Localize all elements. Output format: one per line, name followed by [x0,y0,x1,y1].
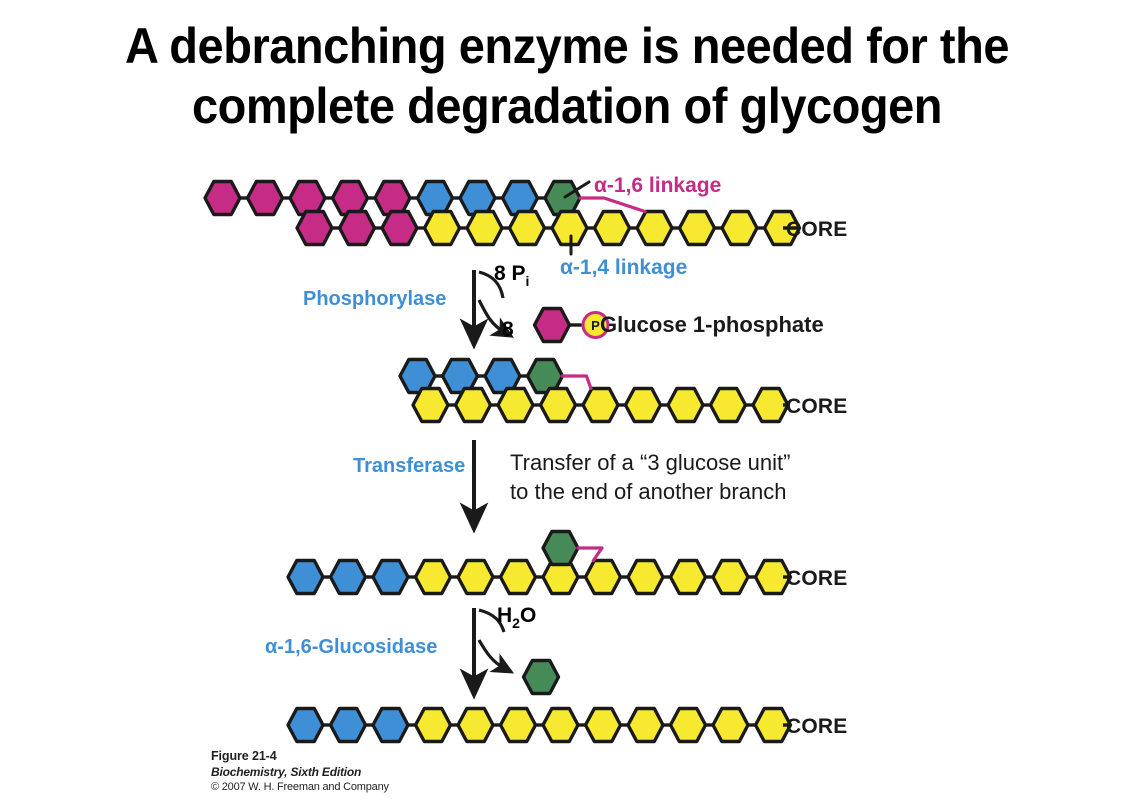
glucose-hexagon-blue [418,182,453,215]
glucose-hexagon-blue [288,709,323,742]
transferase-label: Transferase [353,455,465,477]
alpha-1-6-bond [578,548,602,561]
core-label: CORE [786,567,847,590]
glucose-hexagon-yellow [413,389,448,422]
transfer-note-line-1: Transfer of a “3 glucose unit” [510,450,790,475]
free-glucose-product [524,661,559,694]
g1p-output-curve [479,300,504,332]
glucose-hexagon-yellow [458,561,493,594]
glucose-hexagon-yellow [753,389,788,422]
glucose-hexagon-magenta [297,212,332,245]
phosphorylase-label: Phosphorylase [303,288,446,310]
transfer-note-line-2: to the end of another branch [510,479,786,504]
glucose-hexagon-yellow [595,212,630,245]
glucose-hexagon-yellow [541,389,576,422]
glucose-hexagon-yellow [671,709,706,742]
slide-title: A debranching enzyme is needed for the c… [0,16,1134,136]
phosphate-letter: P [591,318,600,333]
glucose-hexagon-blue [373,561,408,594]
alpha-1-4-linkage-label: α-1,4 linkage [560,256,687,279]
glucose-hexagon-magenta [205,182,240,215]
glucose-hexagon-yellow [671,561,706,594]
glucose-1-phosphate-product: P [535,309,609,342]
glucose-hexagon-yellow [586,709,621,742]
chain-3: CORE [288,532,847,594]
glucose-hexagon-yellow [713,709,748,742]
glucose-hexagon-yellow [416,561,451,594]
credit-figure-number: Figure 21-4 [211,748,389,765]
glucose-hexagon-magenta [333,182,368,215]
core-label: CORE [786,715,847,738]
alpha-1-6-linkage-label: α-1,6 linkage [594,174,721,197]
glucose-hexagon-yellow [680,212,715,245]
glucose-hexagon-green [524,661,559,694]
g1p-count-label: 8 [502,318,514,341]
glucose-hexagon-yellow [467,212,502,245]
glucose-hexagon-yellow [628,561,663,594]
glucose-hexagon-blue [331,561,366,594]
glucose-hexagon-yellow [713,561,748,594]
glucose-hexagon-yellow [501,709,536,742]
glucose-hexagon-blue [331,709,366,742]
glucose-hexagon-yellow [711,389,746,422]
glucose-hexagon-yellow [501,561,536,594]
core-label: CORE [786,395,847,418]
glycogen-degradation-diagram: CORECORECORECORE α-1,6 linkage α-1,4 lin… [0,150,1134,750]
glucose-hexagon-magenta [535,309,570,342]
slide-canvas: A debranching enzyme is needed for the c… [0,0,1134,800]
glucose-hexagon-yellow [425,212,460,245]
glucose-hexagon-yellow [510,212,545,245]
glucose-hexagon-magenta [340,212,375,245]
glucosidase-label: α-1,6-Glucosidase [265,636,437,658]
glucose-hexagon-magenta [248,182,283,215]
glucose-hexagon-yellow [583,389,618,422]
glucose-hexagon-magenta [382,212,417,245]
glucose-hexagon-blue [460,182,495,215]
glucose-hexagon-green [543,532,578,565]
chain-1: CORE [205,182,847,245]
figure-credit: Figure 21-4 Biochemistry, Sixth Edition … [211,748,389,795]
glucose-hexagon-yellow [543,709,578,742]
title-line-1: A debranching enzyme is needed for the [34,16,1100,76]
glucose-hexagon-yellow [626,389,661,422]
glucose-hexagon-blue [373,709,408,742]
glucose-1-phosphate-label: Glucose 1-phosphate [600,312,824,337]
alpha-1-6-bond [580,198,645,212]
credit-copyright: © 2007 W. H. Freeman and Company [211,780,389,795]
pi-input-label: 8 Pi [494,262,529,289]
step-glucosidase: α-1,6-Glucosidase H2O [265,604,559,694]
glucose-hexagon-yellow [458,709,493,742]
glucose-hexagon-magenta [290,182,325,215]
glucose-hexagon-yellow [668,389,703,422]
glucose-hexagon-yellow [637,212,672,245]
glucose-hexagon-yellow [722,212,757,245]
glucose-hexagon-yellow [498,389,533,422]
glucose-hexagon-blue [288,561,323,594]
glucose-hexagon-yellow [628,709,663,742]
glucose-hexagon-magenta [375,182,410,215]
glucose-hexagon-blue [503,182,538,215]
credit-book-title: Biochemistry, Sixth Edition [211,765,389,781]
title-line-2: complete degradation of glycogen [34,76,1100,136]
chain-4: CORE [288,709,847,742]
step-transferase: Transferase Transfer of a “3 glucose uni… [353,440,790,518]
glucose-hexagon-yellow [586,561,621,594]
glucose-hexagon-yellow [456,389,491,422]
glucose-hexagon-yellow [416,709,451,742]
water-label: H2O [497,604,536,631]
glucose-hexagon-green [545,182,580,215]
core-label: CORE [786,218,847,241]
alpha-1-6-linkage-annotation: α-1,6 linkage [565,174,721,197]
glucose-output-curve [479,640,504,668]
chain-2: CORE [400,360,847,422]
alpha-1-6-bond [563,376,591,389]
